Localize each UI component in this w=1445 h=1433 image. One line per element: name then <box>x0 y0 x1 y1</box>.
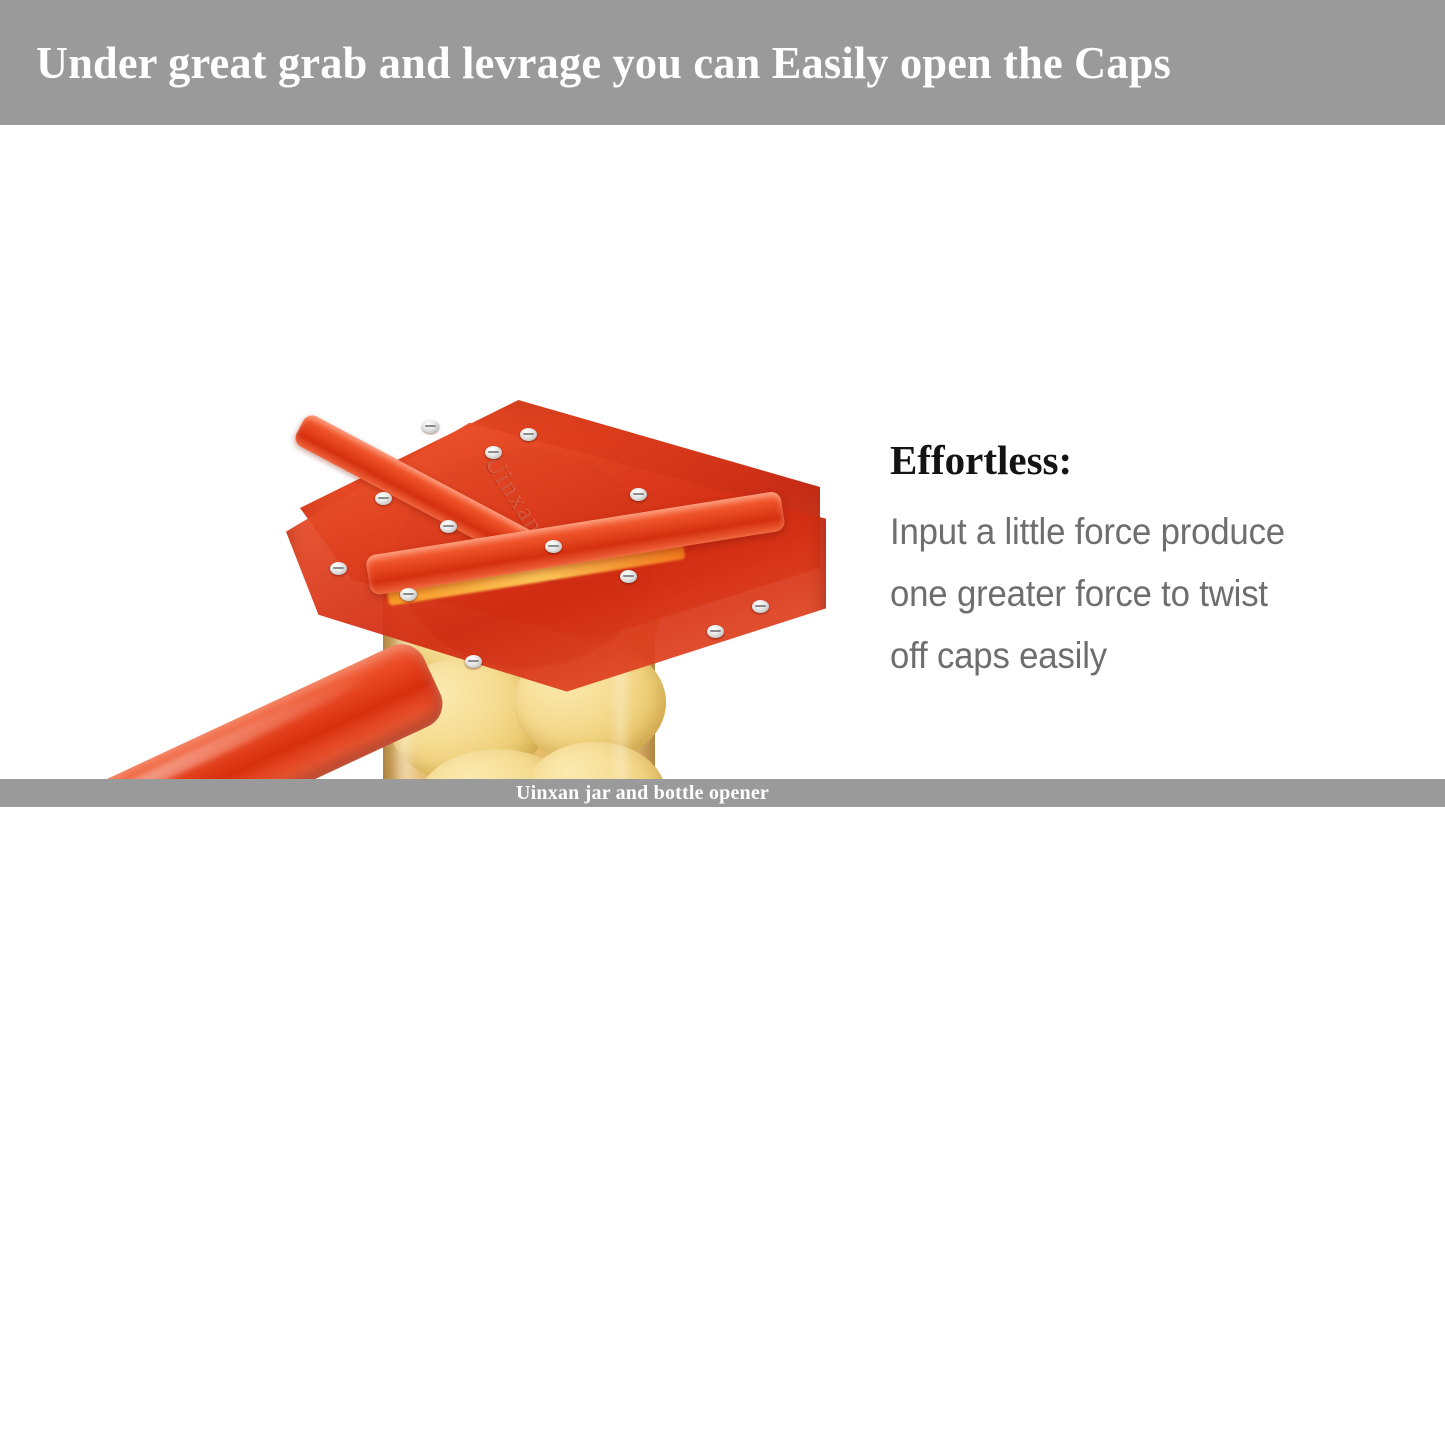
top-feature-panel: Uinxan Effortless: <box>0 125 1445 779</box>
screw <box>520 428 537 441</box>
brand-divider-banner: Uinxan jar and bottle opener <box>0 779 1445 807</box>
screw <box>707 625 724 638</box>
header-banner: Under great grab and levrage you can Eas… <box>0 0 1445 125</box>
screw <box>440 520 457 533</box>
jar-opener-top: Uinxan <box>0 250 850 770</box>
screw <box>630 488 647 501</box>
screw <box>620 570 637 583</box>
bottom-feature-panel: Excellent grab and never sliding around … <box>0 807 1445 1433</box>
top-feature-body-line: off caps easily <box>890 625 1398 687</box>
top-feature-text: Effortless: Input a little force produce… <box>890 433 1430 687</box>
screw <box>465 655 482 668</box>
screw <box>752 600 769 613</box>
top-feature-body-line: Input a little force produce <box>890 501 1398 563</box>
handle-highlight <box>64 671 370 779</box>
brand-caption: Uinxan jar and bottle opener <box>516 782 769 805</box>
top-feature-heading: Effortless: <box>890 433 1430 487</box>
screw <box>422 420 439 433</box>
screw <box>400 588 417 601</box>
top-feature-body-line: one greater force to twist <box>890 563 1398 625</box>
page-title: Under great grab and levrage you can Eas… <box>36 37 1171 89</box>
screw <box>485 446 502 459</box>
opener-handle <box>24 636 451 779</box>
screw <box>330 562 347 575</box>
top-product-photo: Uinxan <box>0 250 850 779</box>
screw <box>545 540 562 553</box>
screw <box>375 492 392 505</box>
